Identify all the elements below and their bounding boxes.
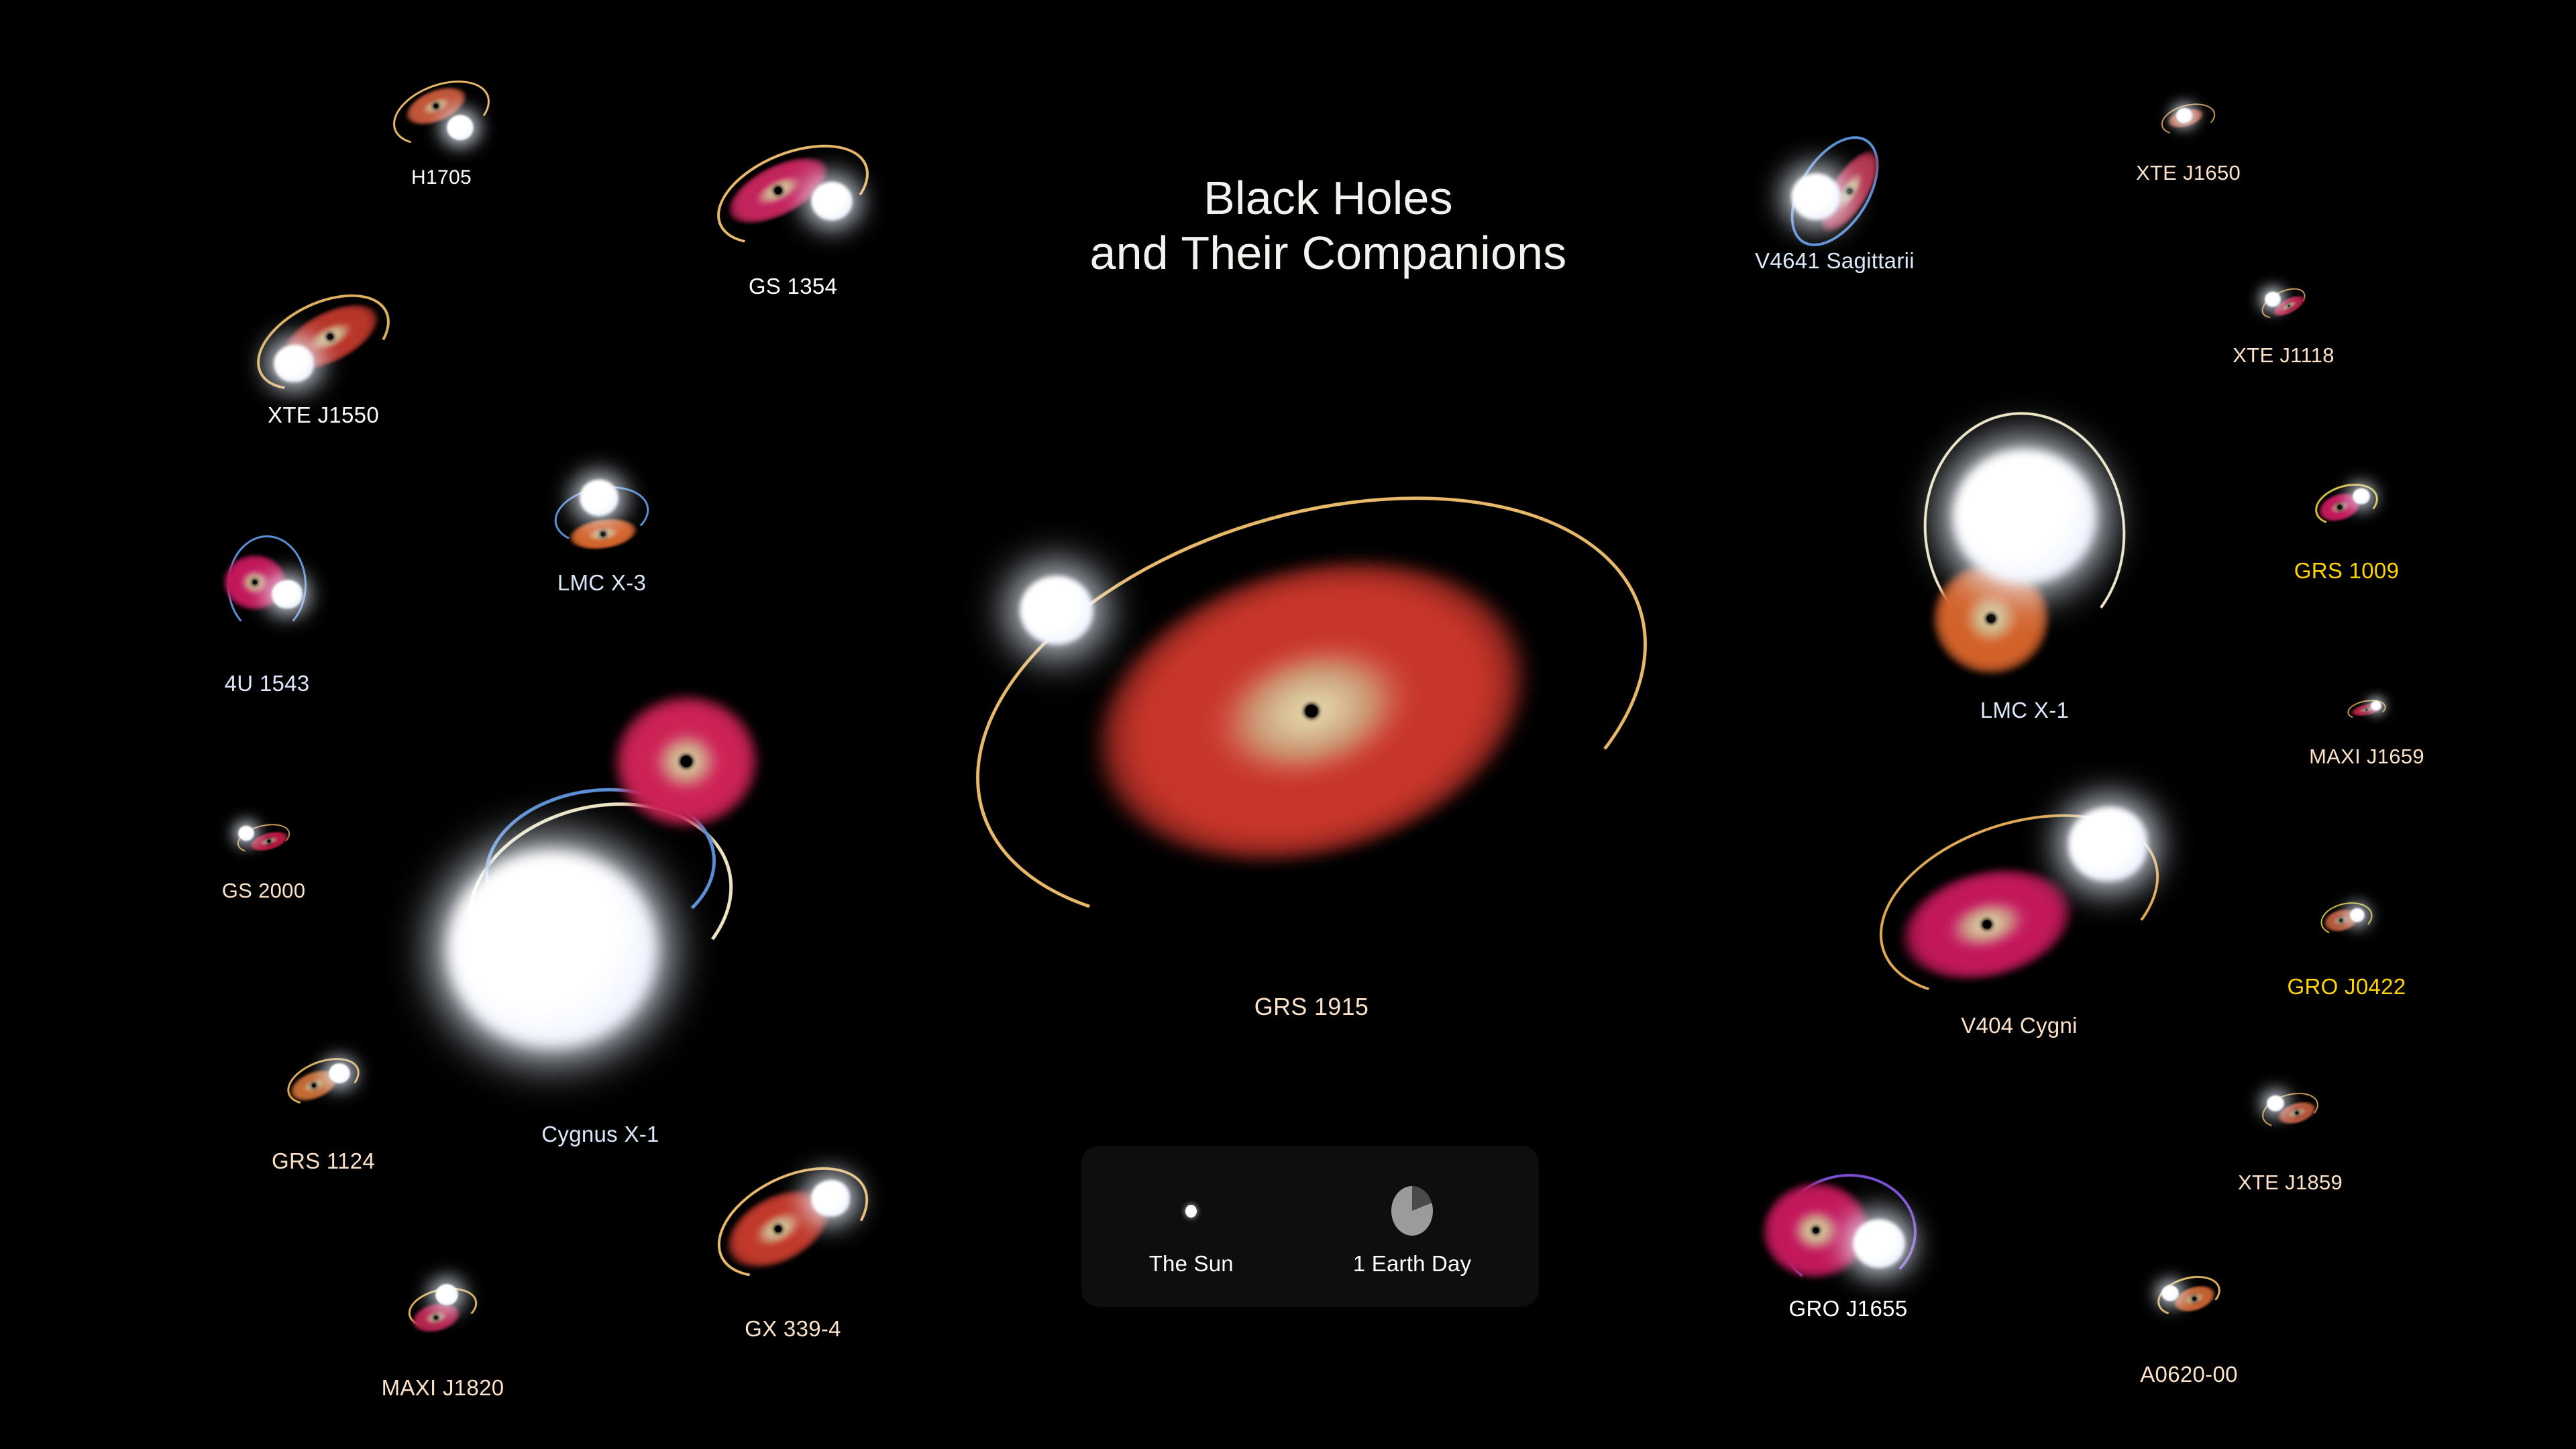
black-hole	[775, 1226, 782, 1232]
system-label: GRS 1009	[2294, 558, 2400, 584]
black-hole	[2366, 709, 2368, 711]
black-hole	[253, 580, 258, 585]
companion-star	[811, 182, 853, 221]
companion-star	[329, 1063, 350, 1083]
legend-day-label: 1 Earth Day	[1353, 1251, 1471, 1277]
legend-sun-label: The Sun	[1149, 1251, 1234, 1277]
companion-star	[2371, 700, 2381, 710]
black-hole	[601, 532, 606, 537]
black-hole	[312, 1083, 316, 1087]
companion-star	[2176, 108, 2192, 123]
scale-legend: The Sun 1 Earth Day	[1081, 1146, 1539, 1307]
system-label: H1705	[411, 166, 472, 189]
companion-star	[2350, 908, 2365, 922]
clock-pie-icon	[1391, 1176, 1433, 1246]
system-label: MAXI J1820	[382, 1375, 504, 1401]
companion-star	[238, 826, 254, 841]
companion-star	[447, 115, 474, 140]
system-label: GS 2000	[222, 879, 305, 903]
system-label: GX 339-4	[745, 1316, 841, 1342]
black-hole	[434, 104, 439, 109]
page-title: Black Holes and Their Companions	[1046, 171, 1610, 281]
system-label: LMC X-1	[1980, 698, 2069, 723]
black-hole	[268, 840, 271, 843]
system-label: GRO J0422	[2288, 974, 2406, 1000]
legend-item-earth-day: 1 Earth Day	[1353, 1176, 1471, 1277]
companion-star	[2068, 807, 2147, 881]
black-hole	[2288, 305, 2290, 307]
legend-item-sun: The Sun	[1149, 1176, 1234, 1277]
system-label: XTE J1550	[268, 402, 379, 428]
companion-star	[447, 850, 658, 1049]
companion-star	[1020, 576, 1093, 645]
black-hole	[681, 756, 692, 767]
companion-star	[811, 1180, 850, 1217]
black-hole	[775, 187, 782, 195]
black-hole	[2338, 505, 2343, 510]
companion-star	[1791, 173, 1841, 220]
system-label: GRS 1915	[1254, 993, 1369, 1021]
black-hole	[1847, 189, 1852, 194]
black-hole	[327, 334, 333, 340]
system-label: V404 Cygni	[1961, 1013, 2078, 1038]
black-hole	[1305, 705, 1318, 718]
sun-dot-icon	[1185, 1176, 1197, 1246]
black-hole	[2340, 919, 2343, 922]
companion-star	[2265, 292, 2281, 307]
black-hole	[2296, 1112, 2299, 1115]
system-label: 4U 1543	[225, 671, 310, 696]
companion-star	[435, 1284, 458, 1305]
system-label: LMC X-3	[557, 570, 646, 596]
black-hole	[1813, 1228, 1819, 1234]
black-hole	[2192, 1297, 2196, 1301]
system-label: Cygnus X-1	[541, 1122, 659, 1147]
companion-star	[580, 480, 619, 517]
system-label: XTE J1859	[2238, 1171, 2343, 1195]
system-label: V4641 Sagittarii	[1755, 248, 1915, 274]
companion-star	[272, 580, 303, 608]
black-hole	[1983, 920, 1992, 929]
visualization-canvas: Black Holes and Their Companions H1705GS…	[0, 0, 2576, 1449]
system-label: GS 1354	[749, 274, 837, 299]
companion-star	[1853, 1219, 1905, 1268]
system-label: A0620-00	[2140, 1362, 2238, 1387]
system-label: GRS 1124	[272, 1148, 375, 1174]
system-label: XTE J1650	[2136, 161, 2241, 185]
companion-star	[274, 345, 314, 382]
system-label: GRO J1655	[1789, 1296, 1908, 1322]
system-label: MAXI J1659	[2309, 745, 2424, 769]
black-hole	[1987, 614, 1996, 623]
companion-star	[1953, 449, 2097, 584]
system-label: XTE J1118	[2233, 343, 2334, 368]
black-hole	[434, 1316, 438, 1320]
